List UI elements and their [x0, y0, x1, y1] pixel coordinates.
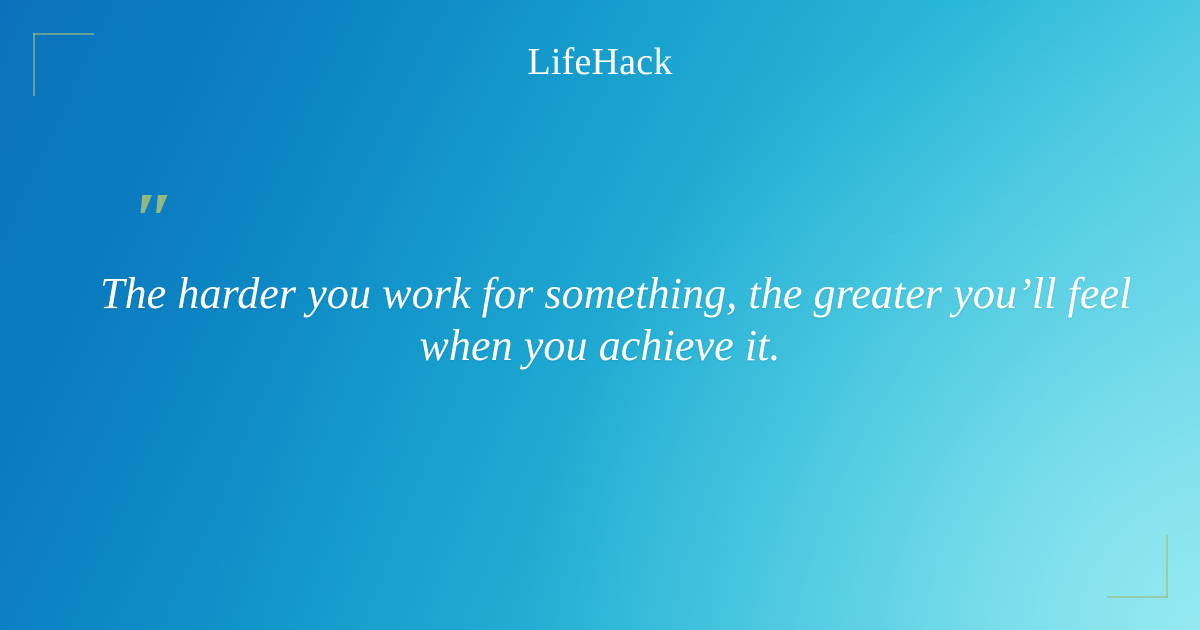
bracket-bottom-edge: [1107, 596, 1168, 598]
quote-card: LifeHack ″ The harder you work for somet…: [0, 0, 1200, 630]
bracket-top-edge: [33, 33, 94, 35]
quote-line: when you achieve it.: [100, 320, 1100, 372]
quote-line: The harder you work for something, the g…: [100, 268, 1100, 320]
brand-logo: LifeHack: [0, 39, 1200, 85]
corner-bracket-bottom-right-icon: [1107, 535, 1168, 598]
quote-text: The harder you work for something, the g…: [100, 268, 1100, 372]
quotation-mark-icon: ″: [133, 182, 175, 258]
bracket-right-edge: [1166, 535, 1168, 598]
